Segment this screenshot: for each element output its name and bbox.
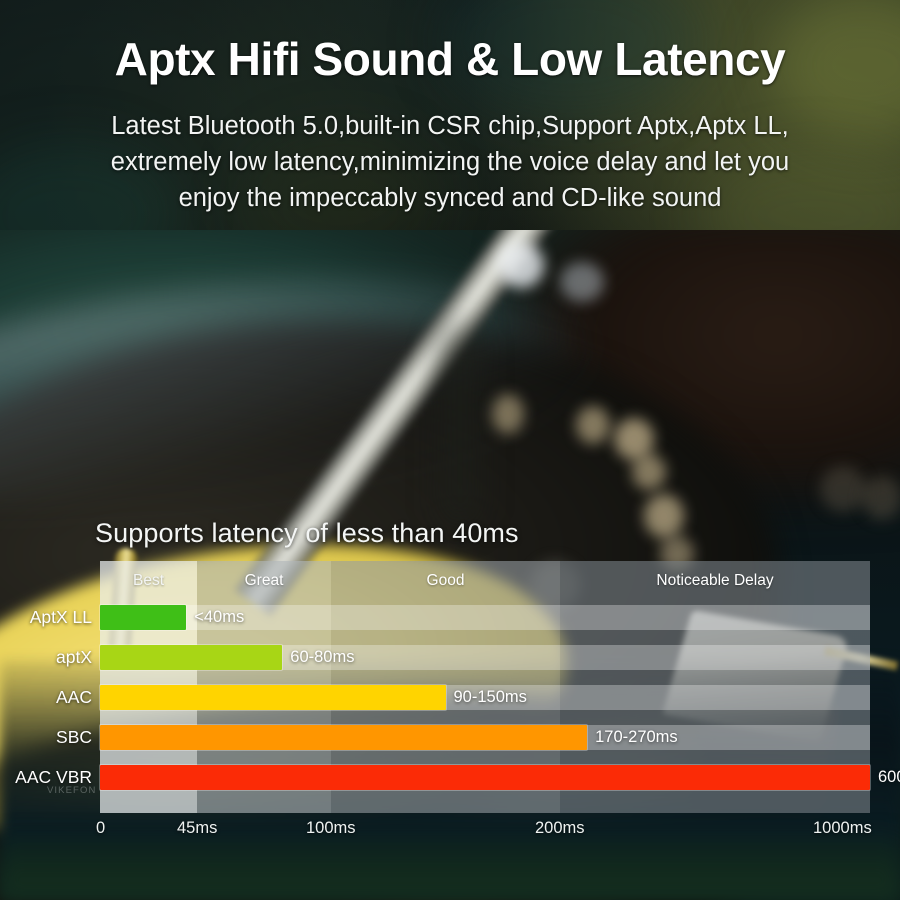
background-wall-right	[520, 230, 900, 500]
bokeh-light-icon	[560, 262, 604, 302]
latency-zone-label: Best	[100, 572, 197, 590]
axis-tick-200ms: 200ms	[535, 819, 585, 838]
axis-tick-45ms: 45ms	[177, 819, 217, 838]
bar-value-label: 90-150ms	[454, 688, 527, 707]
bar-aptx[interactable]	[100, 645, 282, 670]
background-wall	[0, 230, 500, 460]
bar-aptx-ll[interactable]	[100, 605, 186, 630]
bokeh-light-icon	[644, 494, 684, 538]
bokeh-light-icon	[820, 466, 866, 512]
latency-zone-label: Great	[197, 572, 331, 590]
axis-tick-100ms: 100ms	[306, 819, 356, 838]
promo-infographic: Aptx Hifi Sound & Low Latency Latest Blu…	[0, 0, 900, 900]
bar-aac-vbr[interactable]	[100, 765, 870, 790]
bokeh-light-icon	[576, 406, 610, 444]
latency-comparison-chart: BestGreatGoodNoticeable Delay<40msAptX L…	[100, 561, 870, 813]
bar-value-label: 600-1000ms	[878, 768, 900, 787]
page-title: Aptx Hifi Sound & Low Latency	[0, 32, 900, 86]
subtitle-line: Latest Bluetooth 5.0,built-in CSR chip,S…	[50, 108, 850, 144]
bottom-vignette-2	[0, 830, 900, 900]
category-label-aptx: aptX	[56, 647, 92, 668]
category-label-aptx-ll: AptX LL	[30, 607, 92, 628]
bar-sbc[interactable]	[100, 725, 587, 750]
tonearm	[235, 230, 600, 616]
subtitle-line: enjoy the impeccably synced and CD-like …	[50, 180, 850, 216]
bar-value-label: 170-270ms	[595, 728, 678, 747]
axis-tick-1000ms: 1000ms	[813, 819, 872, 838]
category-label-sbc: SBC	[56, 727, 92, 748]
platter-rim-highlight	[0, 251, 599, 539]
latency-zone-label: Noticeable Delay	[560, 572, 870, 590]
axis-tick-0: 0	[96, 819, 105, 838]
bar-value-label: 60-80ms	[290, 648, 354, 667]
bokeh-light-icon	[632, 454, 666, 490]
bar-value-label: <40ms	[194, 608, 244, 627]
bokeh-blob-icon	[442, 326, 478, 526]
page-subtitle: Latest Bluetooth 5.0,built-in CSR chip,S…	[50, 108, 850, 216]
category-label-aac: AAC	[56, 687, 92, 708]
bokeh-light-icon	[498, 242, 544, 288]
subtitle-line: extremely low latency,minimizing the voi…	[50, 144, 850, 180]
bokeh-light-icon	[492, 394, 524, 434]
latency-zone-label: Good	[331, 572, 560, 590]
bokeh-light-icon	[614, 418, 654, 460]
chart-title: Supports latency of less than 40ms	[95, 518, 519, 549]
bar-aac[interactable]	[100, 685, 446, 710]
watermark: VIKEFON	[47, 785, 96, 796]
bokeh-light-icon	[862, 476, 900, 520]
